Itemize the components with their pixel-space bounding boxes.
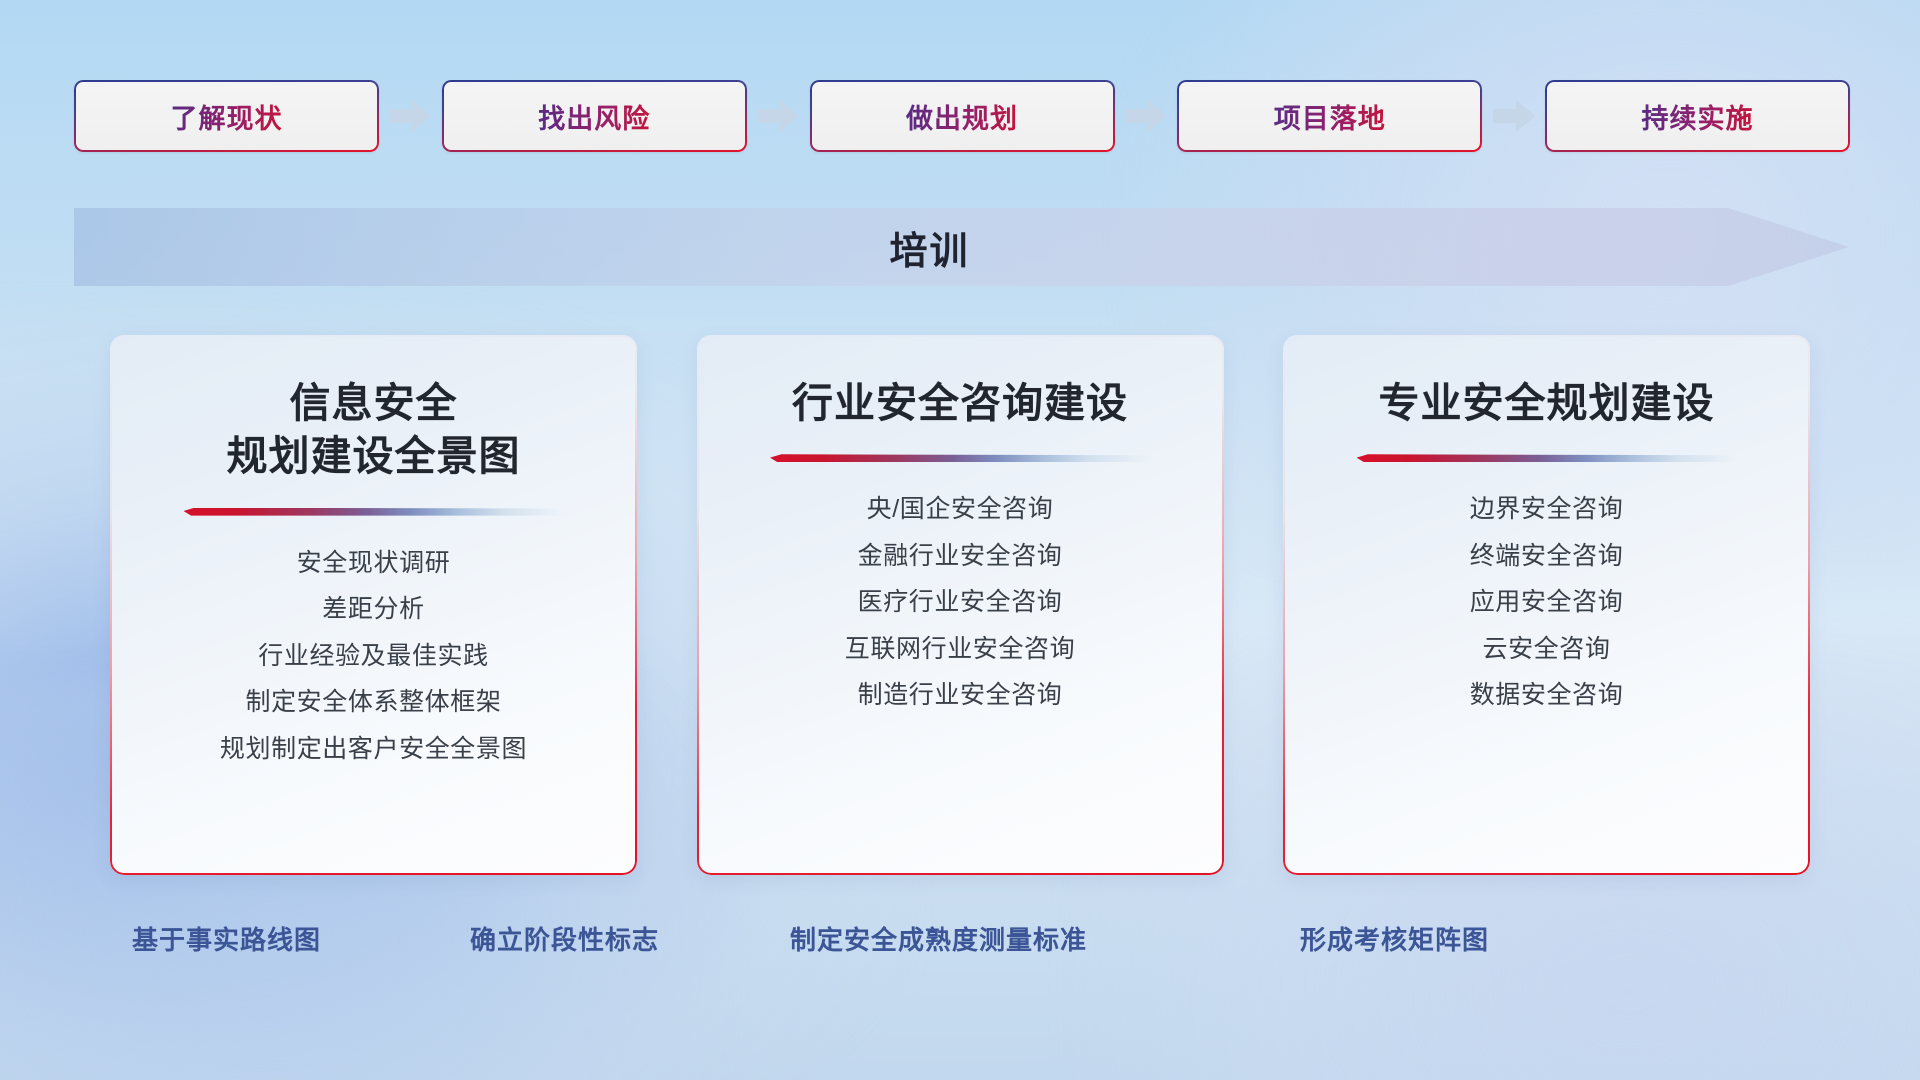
- footnote-matrix: 形成考核矩阵图: [1300, 920, 1489, 957]
- flow-step-5-label: 持续实施: [1545, 80, 1850, 152]
- card-1-title: 信息安全 规划建设全景图: [227, 377, 521, 484]
- card-3-title: 专业安全规划建设: [1379, 377, 1715, 430]
- card-2-list: 央/国企安全咨询 金融行业安全咨询 医疗行业安全咨询 互联网行业安全咨询 制造行…: [845, 496, 1075, 710]
- card-2-title: 行业安全咨询建设: [792, 377, 1128, 430]
- card-2-divider: [770, 454, 1150, 462]
- arrow-right-icon: [1123, 96, 1169, 136]
- card-1-title-line-2: 规划建设全景图: [227, 430, 521, 483]
- slide-canvas: 了解现状 找出风险 做出规划 项目落地 持续实施 培训: [0, 0, 1920, 1080]
- card-3-title-line-1: 专业安全规划建设: [1379, 377, 1715, 430]
- training-band-title: 培训: [74, 208, 1849, 286]
- footnote-milestones: 确立阶段性标志: [470, 920, 659, 957]
- list-item: 制定安全体系整体框架: [245, 689, 501, 717]
- footnote-roadmap: 基于事实路线图: [132, 920, 321, 957]
- list-item: 央/国企安全咨询: [867, 496, 1054, 524]
- list-item: 制造行业安全咨询: [858, 682, 1063, 710]
- flow-step-3-label: 做出规划: [810, 80, 1115, 152]
- process-flow-row: 了解现状 找出风险 做出规划 项目落地 持续实施: [74, 78, 1850, 154]
- card-3-list: 边界安全咨询 终端安全咨询 应用安全咨询 云安全咨询 数据安全咨询: [1470, 496, 1624, 710]
- list-item: 数据安全咨询: [1470, 682, 1624, 710]
- list-item: 安全现状调研: [297, 550, 451, 578]
- arrow-right-icon: [387, 96, 433, 136]
- list-item: 应用安全咨询: [1470, 589, 1624, 617]
- footnote-maturity: 制定安全成熟度测量标准: [790, 920, 1087, 957]
- list-item: 终端安全咨询: [1470, 543, 1624, 571]
- card-1-list: 安全现状调研 差距分析 行业经验及最佳实践 制定安全体系整体框架 规划制定出客户…: [220, 550, 527, 764]
- training-band: 培训: [74, 208, 1849, 286]
- list-item: 医疗行业安全咨询: [858, 589, 1063, 617]
- card-3-divider: [1357, 454, 1737, 462]
- flow-step-2-label: 找出风险: [442, 80, 747, 152]
- flow-step-4[interactable]: 项目落地: [1177, 80, 1482, 152]
- flow-step-1-label: 了解现状: [74, 80, 379, 152]
- list-item: 行业经验及最佳实践: [258, 643, 488, 671]
- arrow-right-icon: [755, 96, 801, 136]
- flow-step-4-label: 项目落地: [1177, 80, 1482, 152]
- flow-step-5[interactable]: 持续实施: [1545, 80, 1850, 152]
- card-row: 信息安全 规划建设全景图 安全现状调研 差距分析 行业经验及最佳实践 制定安全体…: [110, 335, 1810, 880]
- card-security-blueprint[interactable]: 信息安全 规划建设全景图 安全现状调研 差距分析 行业经验及最佳实践 制定安全体…: [110, 335, 637, 875]
- card-1-divider: [184, 508, 564, 516]
- card-professional-planning[interactable]: 专业安全规划建设 边界安全咨询 终端安全咨询 应用安全咨询 云安全咨询 数据安全…: [1283, 335, 1810, 875]
- arrow-right-icon: [1491, 96, 1537, 136]
- flow-step-2[interactable]: 找出风险: [442, 80, 747, 152]
- list-item: 规划制定出客户安全全景图: [220, 736, 527, 764]
- list-item: 金融行业安全咨询: [858, 543, 1063, 571]
- flow-step-3[interactable]: 做出规划: [810, 80, 1115, 152]
- footnote-row: 基于事实路线图 确立阶段性标志 制定安全成熟度测量标准 形成考核矩阵图: [0, 920, 1920, 972]
- list-item: 边界安全咨询: [1470, 496, 1624, 524]
- list-item: 互联网行业安全咨询: [845, 636, 1075, 664]
- card-industry-consulting[interactable]: 行业安全咨询建设 央/国企安全咨询 金融行业安全咨询 医疗行业安全咨询 互联网行…: [697, 335, 1224, 875]
- flow-step-1[interactable]: 了解现状: [74, 80, 379, 152]
- list-item: 云安全咨询: [1482, 636, 1610, 664]
- card-1-title-line-1: 信息安全: [227, 377, 521, 430]
- card-2-title-line-1: 行业安全咨询建设: [792, 377, 1128, 430]
- list-item: 差距分析: [322, 596, 424, 624]
